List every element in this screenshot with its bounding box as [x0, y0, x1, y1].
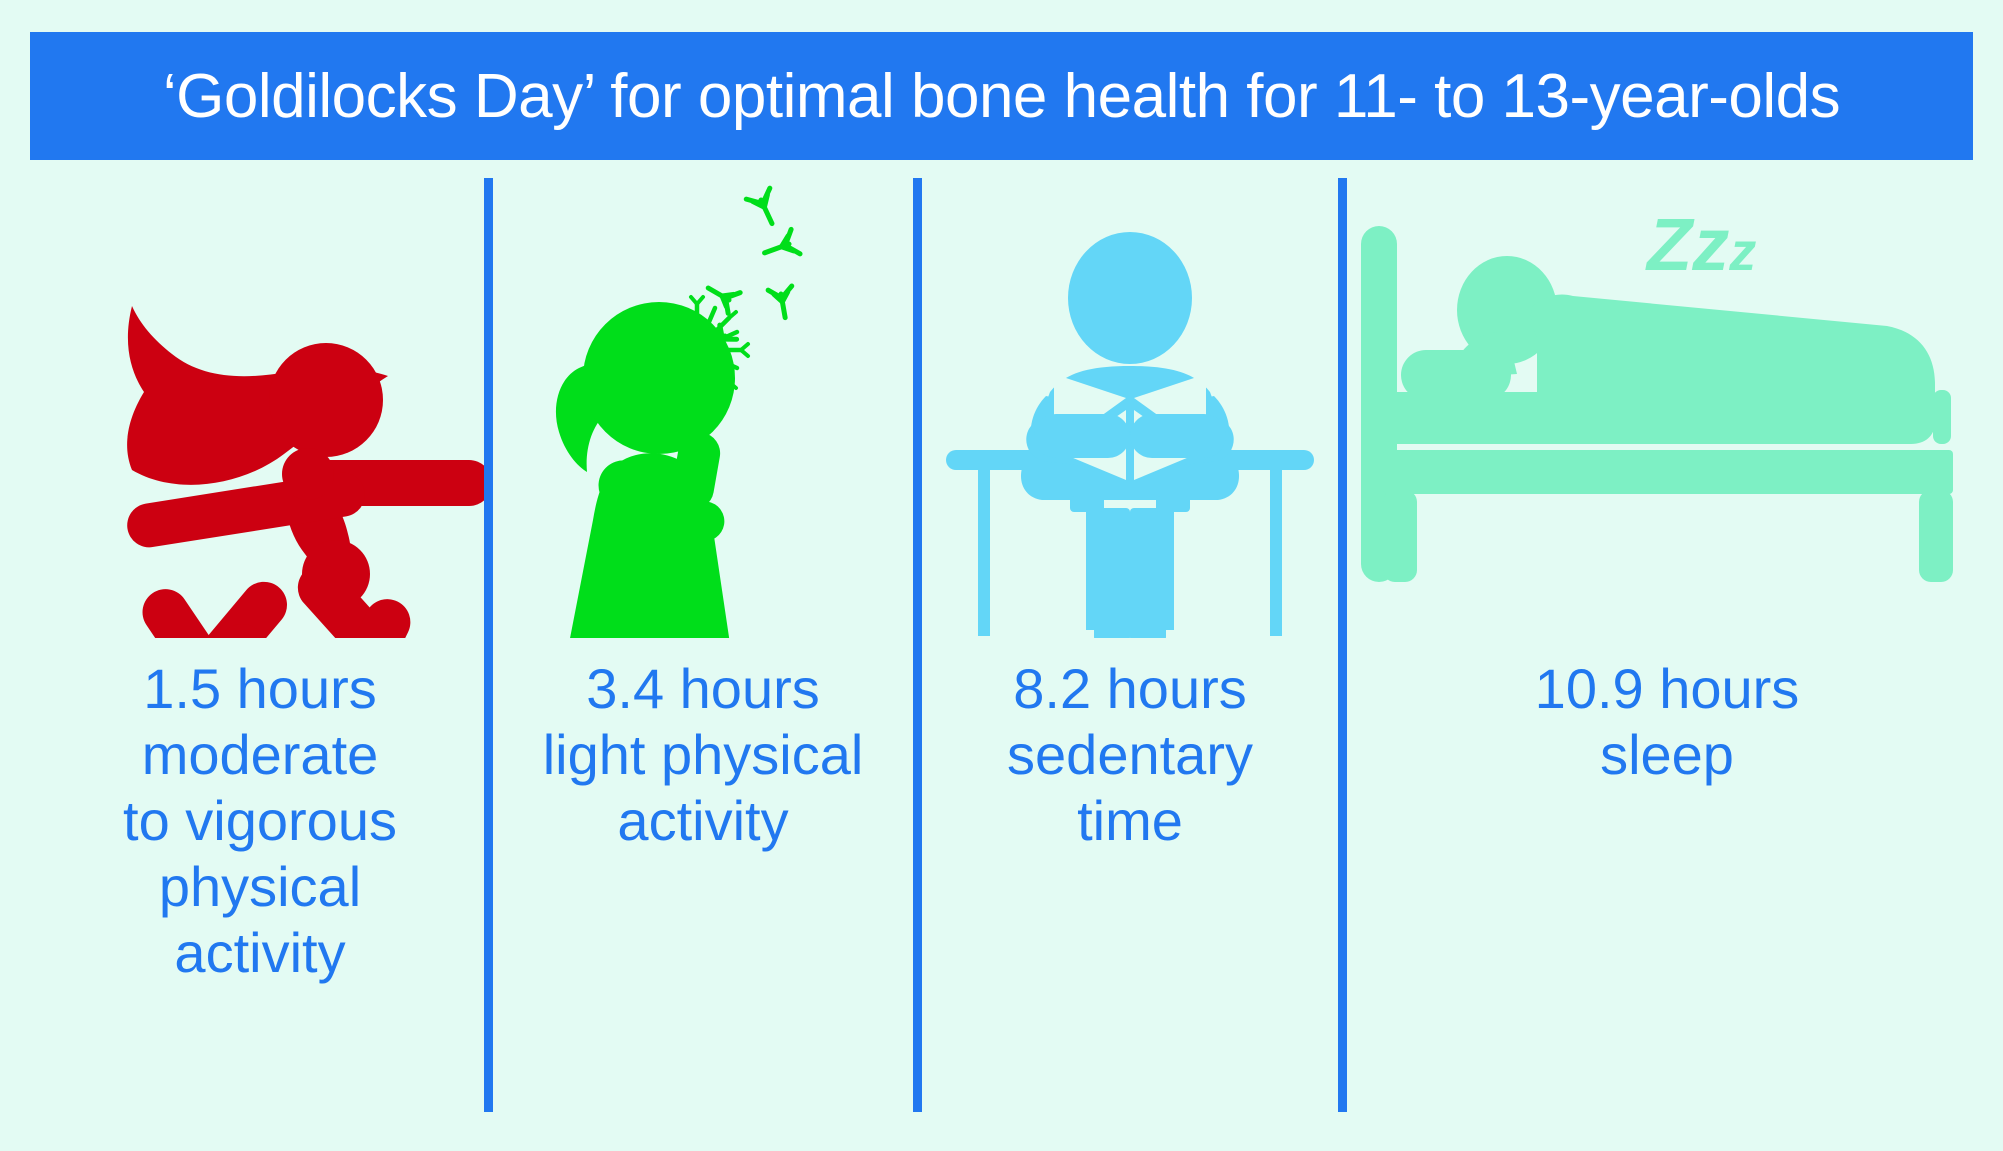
caption-line: 1.5 hours	[42, 656, 478, 722]
caption-line: activity	[42, 920, 478, 986]
superhero-running-icon	[36, 178, 484, 638]
column-light-physical-activity: 3.4 hours light physical activity	[493, 178, 913, 1118]
caption-line: 8.2 hours	[928, 656, 1332, 722]
caption-line: sleep	[1353, 722, 1981, 788]
caption-line: sedentary	[928, 722, 1332, 788]
person-sleeping-in-bed-icon: Zzz	[1347, 178, 1987, 638]
caption-line: moderate	[42, 722, 478, 788]
icon-area-1	[36, 178, 484, 638]
caption-column-4: 10.9 hours sleep	[1347, 656, 1987, 788]
sleep-sound-text: Zzz	[1645, 203, 1756, 286]
title-banner: ‘Goldilocks Day’ for optimal bone health…	[30, 32, 1973, 160]
column-sedentary-time: 8.2 hours sedentary time	[922, 178, 1338, 1118]
page-title: ‘Goldilocks Day’ for optimal bone health…	[163, 61, 1840, 132]
caption-column-1: 1.5 hours moderate to vigorous physical …	[36, 656, 484, 986]
icon-area-2	[493, 178, 913, 638]
caption-column-3: 8.2 hours sedentary time	[922, 656, 1338, 854]
caption-column-2: 3.4 hours light physical activity	[493, 656, 913, 854]
caption-line: to vigorous	[42, 788, 478, 854]
caption-line: 10.9 hours	[1353, 656, 1981, 722]
caption-line: physical	[42, 854, 478, 920]
caption-line: time	[928, 788, 1332, 854]
column-divider-2	[913, 178, 922, 1112]
column-divider-3	[1338, 178, 1347, 1112]
child-reading-at-desk-icon	[922, 178, 1338, 638]
girl-blowing-dandelion-icon	[493, 178, 913, 638]
caption-line: light physical	[499, 722, 907, 788]
icon-area-3	[922, 178, 1338, 638]
icon-area-4: Zzz	[1347, 178, 1987, 638]
column-moderate-vigorous-activity: 1.5 hours moderate to vigorous physical …	[36, 178, 484, 1118]
infographic-poster: ‘Goldilocks Day’ for optimal bone health…	[0, 0, 2003, 1151]
caption-line: activity	[499, 788, 907, 854]
column-divider-1	[484, 178, 493, 1112]
caption-line: 3.4 hours	[499, 656, 907, 722]
column-sleep: Zzz 10.9 hours sleep	[1347, 178, 1987, 1118]
